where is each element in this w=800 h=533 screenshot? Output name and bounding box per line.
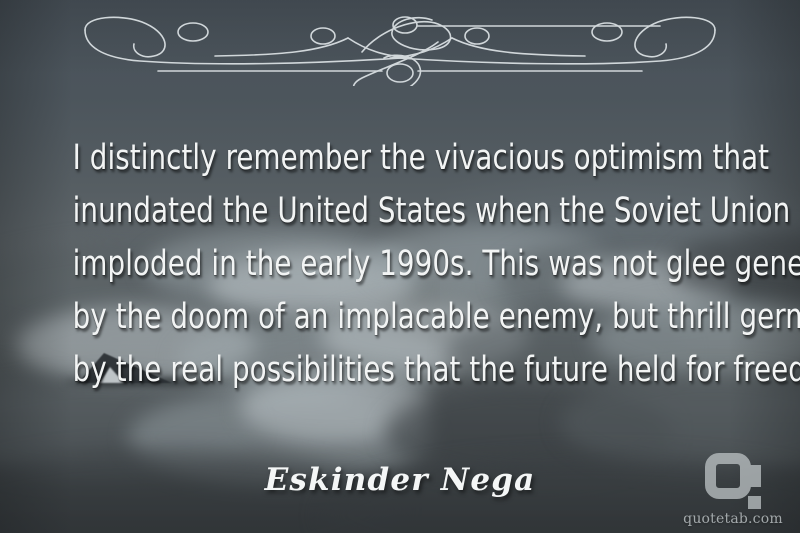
logo-stem [750,465,761,487]
quote-text: I distinctly remember the vivacious opti… [73,132,728,397]
quote-line: by the real possibilities that the futur… [73,344,728,397]
quote-line: imploded in the early 1990s. This was no… [73,238,728,291]
quote-card: I distinctly remember the vivacious opti… [0,0,800,533]
site-url: quotetab.com [678,511,788,527]
logo-dot [748,496,761,509]
logo-ring [705,453,751,499]
quote-line: by the doom of an implacable enemy, but … [73,291,728,344]
quotetab-q-logo-icon [705,453,761,509]
quote-line: inundated the United States when the Sov… [73,185,728,238]
site-watermark[interactable]: quotetab.com [678,453,788,527]
quote-line: I distinctly remember the vivacious opti… [73,132,728,185]
